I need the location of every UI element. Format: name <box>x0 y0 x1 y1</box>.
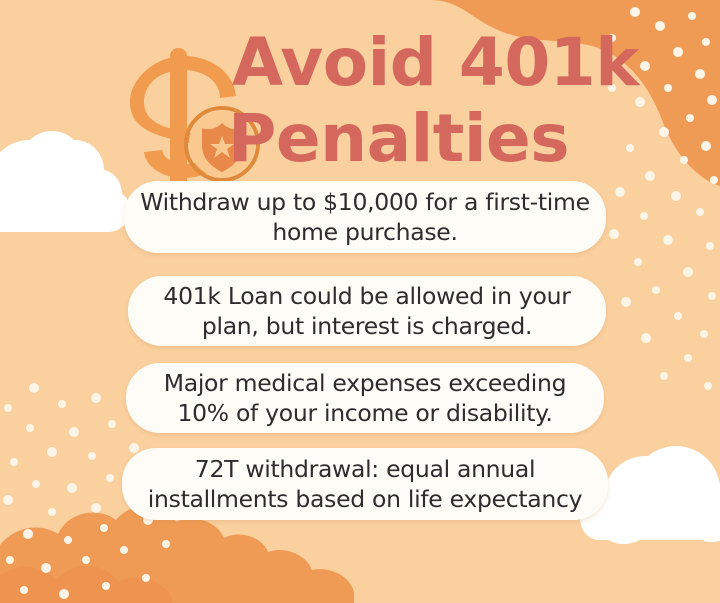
tip-card-text: 72T withdrawal: equal annual installment… <box>136 454 594 514</box>
tip-card: Major medical expenses exceeding 10% of … <box>126 363 604 433</box>
tip-card-text: 401k Loan could be allowed in your plan,… <box>142 281 592 341</box>
tip-card: 401k Loan could be allowed in your plan,… <box>128 276 606 346</box>
tip-card: 72T withdrawal: equal annual installment… <box>122 448 608 520</box>
tips-card-list: Withdraw up to $10,000 for a first-time … <box>0 0 720 603</box>
tip-card-text: Withdraw up to $10,000 for a first-time … <box>138 187 592 247</box>
tip-card-text: Major medical expenses exceeding 10% of … <box>140 368 590 428</box>
poster-canvas: Avoid 401k Penalties Withdraw up to $10,… <box>0 0 720 603</box>
tip-card: Withdraw up to $10,000 for a first-time … <box>124 181 606 253</box>
